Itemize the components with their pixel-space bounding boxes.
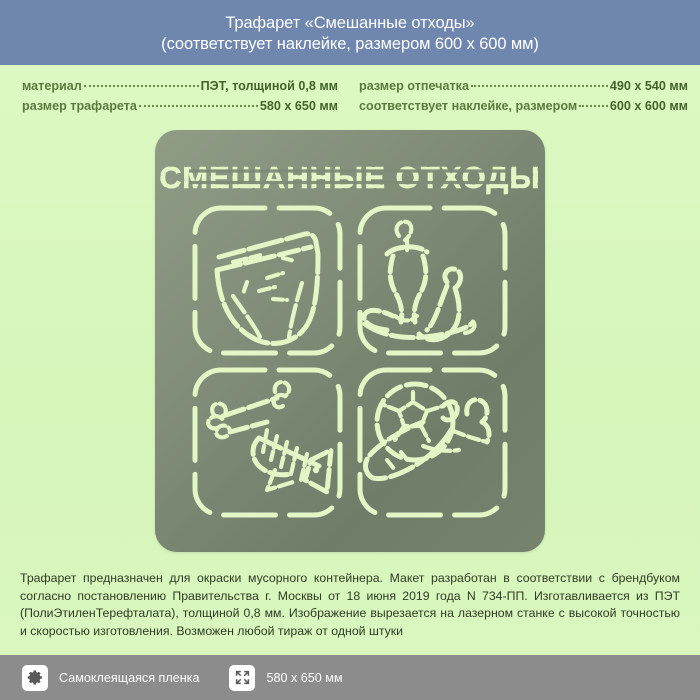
stencil-cutouts: .cut{fill:none;stroke:#e2f6c6;stroke-wid… (155, 130, 545, 552)
fish-bone-panel (195, 370, 340, 515)
spec-label: материал (22, 76, 82, 96)
spec-column-left: материал ПЭТ, толщиной 0,8 мм размер тра… (0, 76, 350, 118)
stencil-title-text: СМЕШАННЫЕ ОТХОДЫ (159, 160, 541, 195)
apple-core-panel (360, 208, 505, 353)
spec-row-stencil-size: размер трафарета 580 х 650 мм (22, 96, 338, 116)
specifications: материал ПЭТ, толщиной 0,8 мм размер тра… (0, 76, 700, 118)
page-title-line2: (соответствует наклейке, размером 600 х … (161, 34, 539, 55)
page-title-line1: Трафарет «Смешанные отходы» (225, 13, 474, 34)
spec-label: соответствует наклейке, размером (359, 96, 577, 116)
diaper-icon (217, 234, 318, 344)
spec-dot-leader (471, 84, 608, 87)
footer-bar: Самоклеящаяся пленка 580 x 650 мм (0, 655, 700, 700)
spec-dot-leader (84, 84, 199, 87)
footer-item-size: 580 x 650 мм (229, 665, 342, 691)
diaper-panel (195, 208, 340, 353)
spec-value: 580 х 650 мм (260, 96, 338, 116)
product-card: Трафарет «Смешанные отходы» (соответству… (0, 0, 700, 700)
torn-ball-panel (360, 370, 505, 515)
apple-core-banana-peel-icon (364, 222, 475, 340)
spec-value: 600 х 600 мм (610, 96, 688, 116)
fish-skeleton-bone-icon (208, 382, 331, 492)
spec-row-sticker-match: соответствует наклейке, размером 600 х 6… (359, 96, 688, 116)
product-description: Трафарет предназначен для окраски мусорн… (20, 570, 680, 640)
stencil-plate: .cut{fill:none;stroke:#e2f6c6;stroke-wid… (155, 130, 545, 552)
spec-dot-leader (139, 104, 258, 107)
spec-label: размер трафарета (22, 96, 137, 116)
resize-arrows-icon (229, 665, 255, 691)
spec-row-material: материал ПЭТ, толщиной 0,8 мм (22, 76, 338, 96)
spec-row-print-size: размер отпечатка 490 х 540 мм (359, 76, 688, 96)
footer-item-material: Самоклеящаяся пленка (22, 665, 199, 691)
stencil-preview: .cut{fill:none;stroke:#e2f6c6;stroke-wid… (155, 130, 545, 552)
footer-label-size: 580 x 650 мм (266, 671, 342, 685)
header-banner: Трафарет «Смешанные отходы» (соответству… (0, 0, 700, 65)
spec-dot-leader (579, 104, 608, 107)
gear-icon (22, 665, 48, 691)
spec-column-right: размер отпечатка 490 х 540 мм соответств… (350, 76, 700, 118)
torn-ball-old-shoe-icon (366, 384, 490, 479)
footer-label-material: Самоклеящаяся пленка (59, 671, 199, 685)
spec-label: размер отпечатка (359, 76, 469, 96)
spec-value: 490 х 540 мм (610, 76, 688, 96)
svg-text:СМЕШАННЫЕ ОТХОДЫ: СМЕШАННЫЕ ОТХОДЫ (159, 160, 541, 195)
spec-value: ПЭТ, толщиной 0,8 мм (201, 76, 338, 96)
